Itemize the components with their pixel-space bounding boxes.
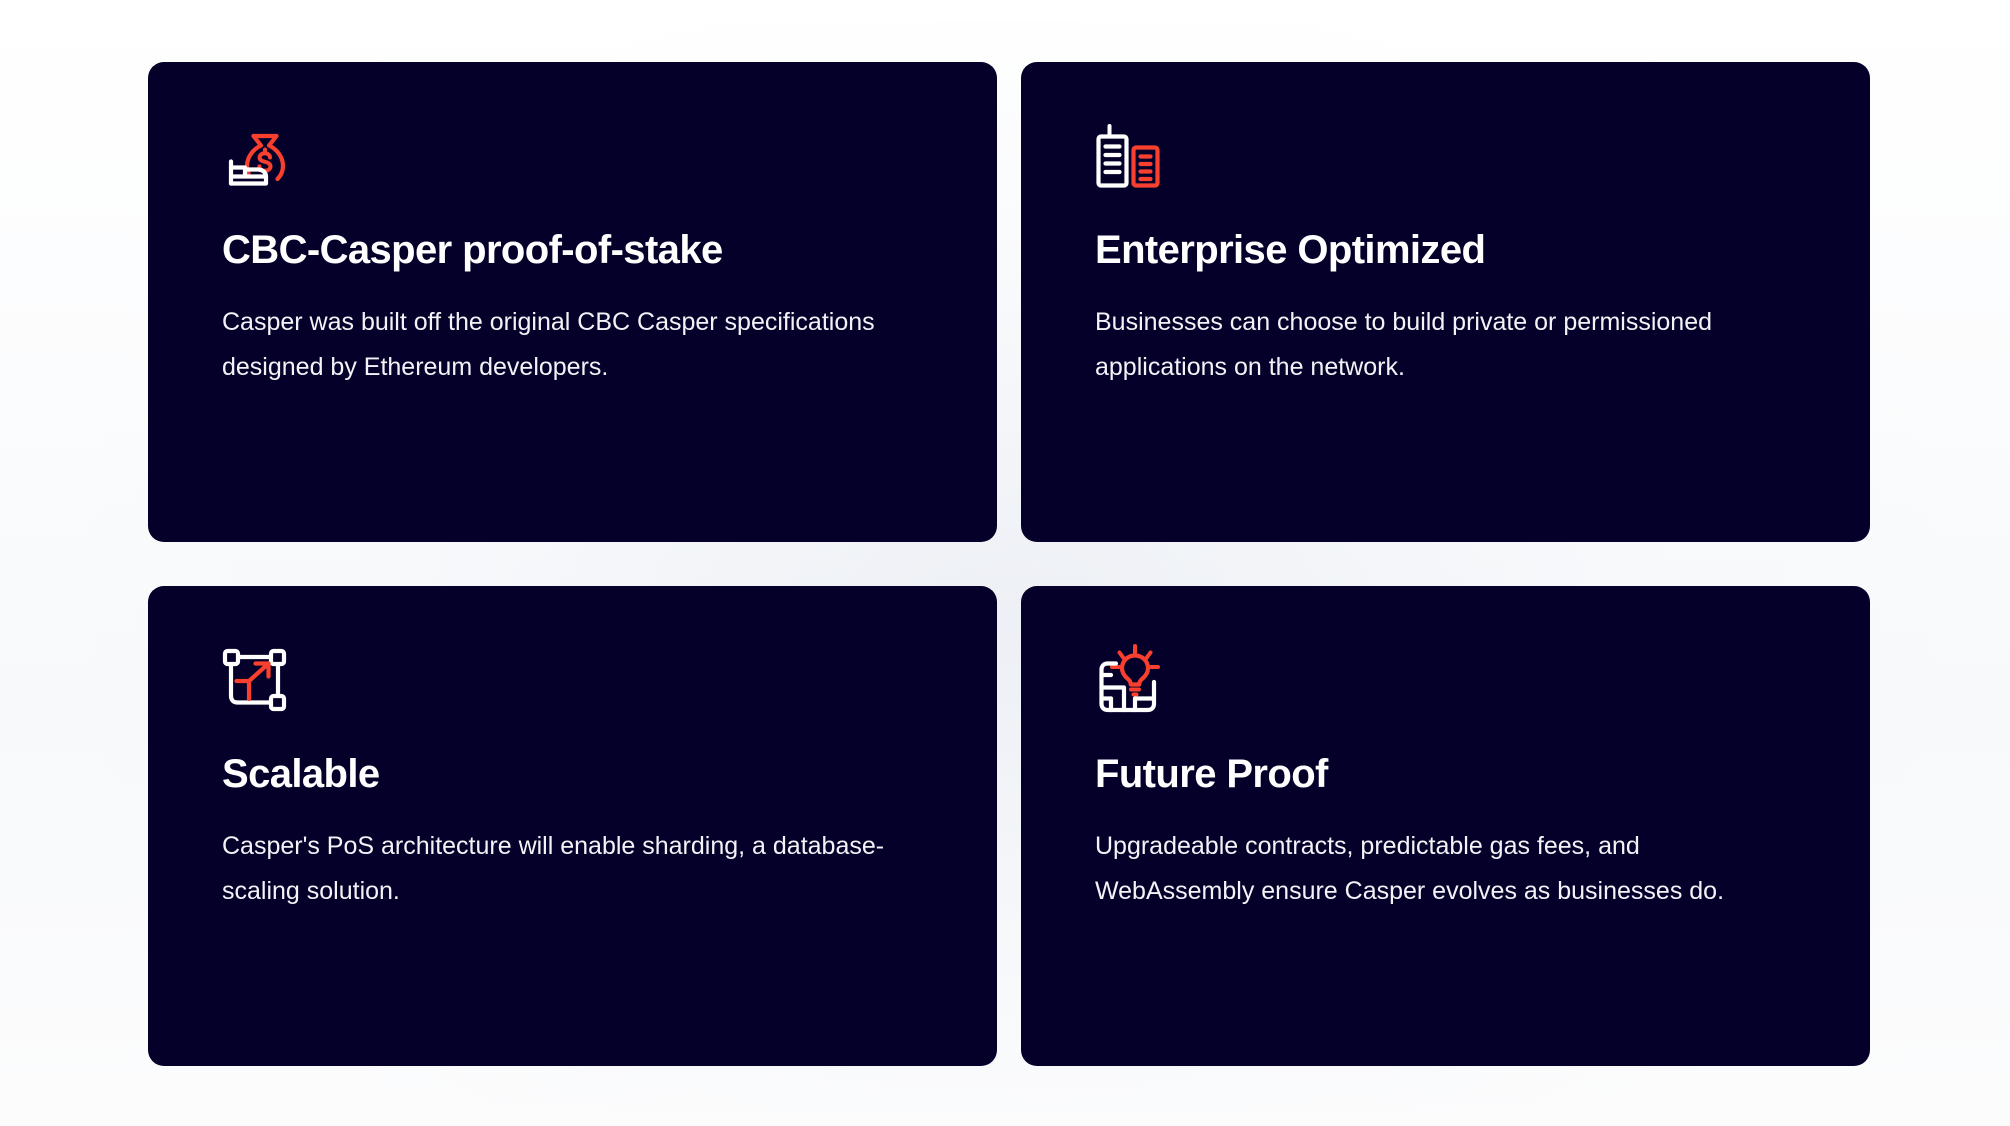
feature-card-scalable[interactable]: Scalable Casper's PoS architecture will … <box>148 586 997 1066</box>
feature-cards-page: CBC-Casper proof-of-stake Casper was bui… <box>0 0 2010 1126</box>
scale-arrow-frame-icon <box>222 644 302 716</box>
feature-card-grid: CBC-Casper proof-of-stake Casper was bui… <box>148 62 1870 1066</box>
feature-card-body: Casper was built off the original CBC Ca… <box>222 300 912 390</box>
feature-card-enterprise-optimized[interactable]: Enterprise Optimized Businesses can choo… <box>1021 62 1870 542</box>
office-buildings-icon <box>1095 120 1175 192</box>
feature-card-body: Upgradeable contracts, predictable gas f… <box>1095 824 1795 914</box>
feature-card-title: Future Proof <box>1095 750 1870 798</box>
feature-card-body: Businesses can choose to build private o… <box>1095 300 1785 390</box>
lightbulb-circuit-icon <box>1095 644 1175 716</box>
feature-card-title: Scalable <box>222 750 997 798</box>
feature-card-title: Enterprise Optimized <box>1095 226 1870 274</box>
feature-card-title: CBC-Casper proof-of-stake <box>222 226 997 274</box>
feature-card-future-proof[interactable]: Future Proof Upgradeable contracts, pred… <box>1021 586 1870 1066</box>
feature-card-body: Casper's PoS architecture will enable sh… <box>222 824 912 914</box>
money-bag-bed-icon <box>222 120 302 192</box>
feature-card-cbc-casper[interactable]: CBC-Casper proof-of-stake Casper was bui… <box>148 62 997 542</box>
